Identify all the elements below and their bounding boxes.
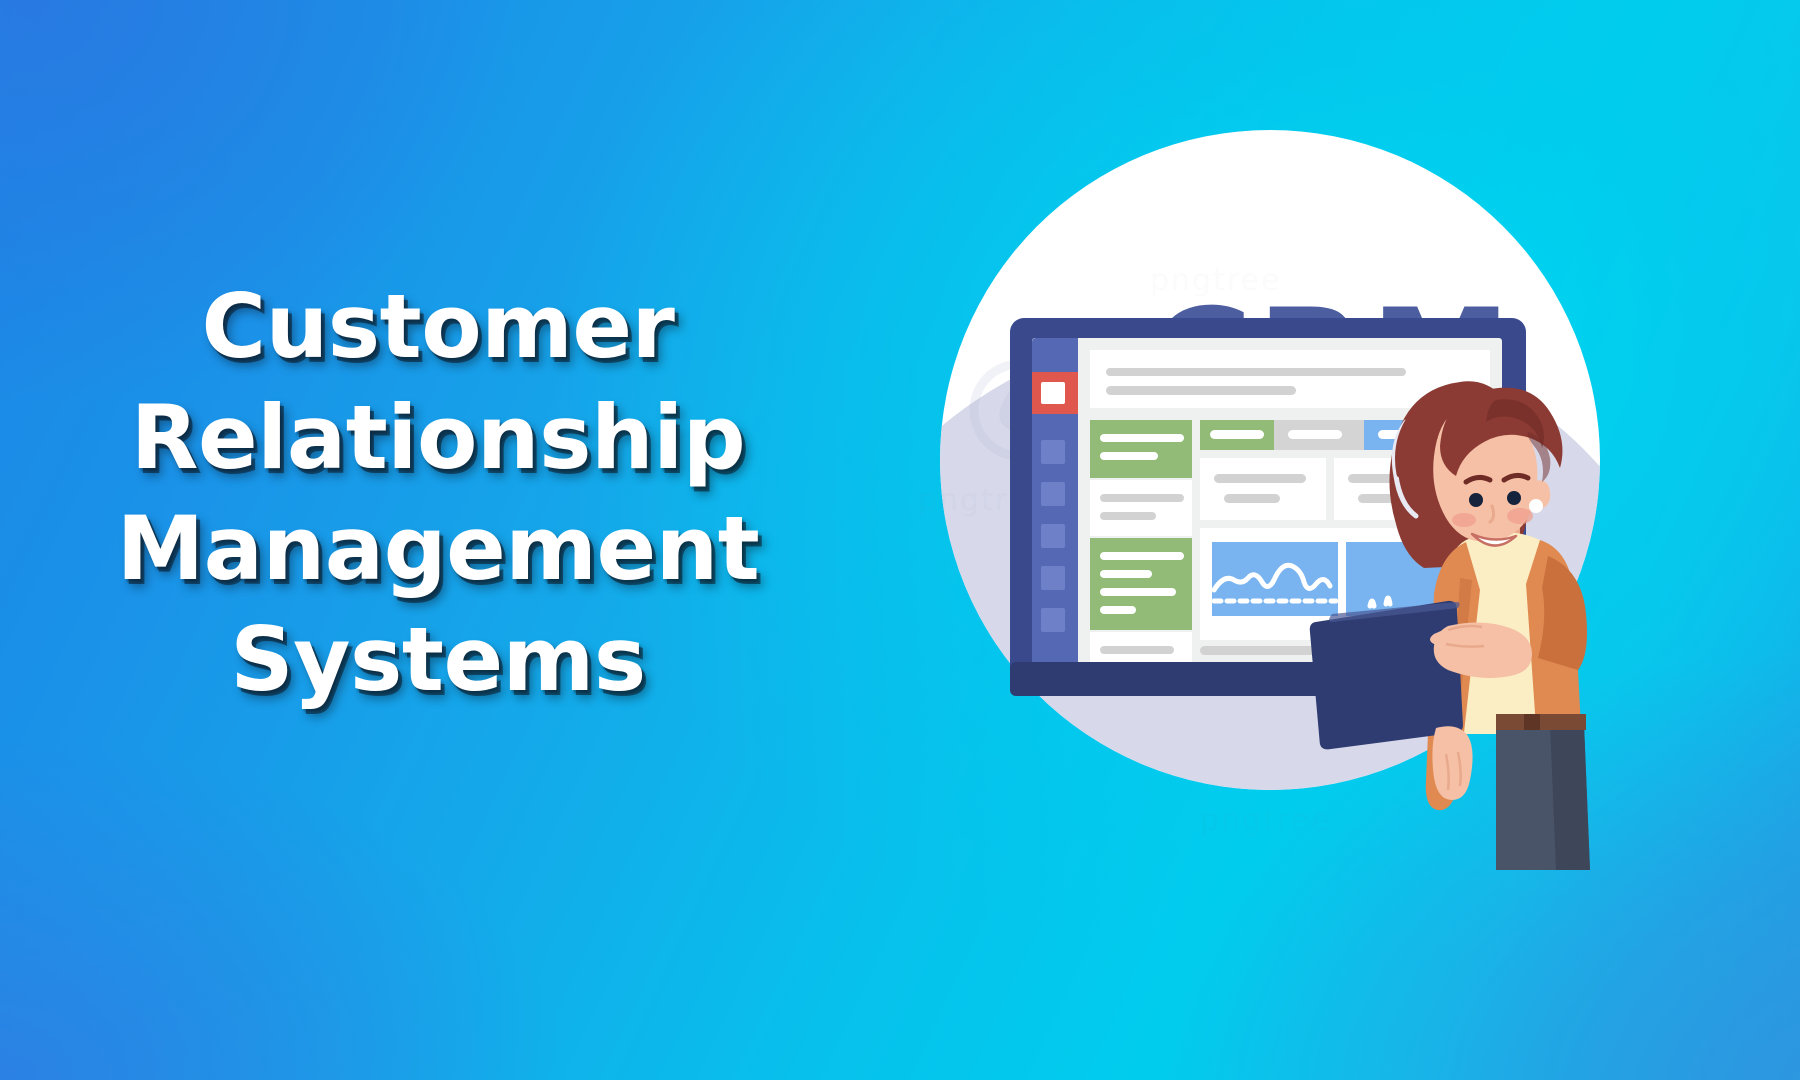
earring — [1529, 499, 1543, 513]
sidebar-item — [1041, 566, 1065, 590]
info-card-left — [1200, 458, 1326, 520]
title-line-1: Customer — [88, 272, 788, 383]
card-line — [1100, 434, 1184, 442]
sidebar-item — [1041, 482, 1065, 506]
sidebar-item — [1041, 524, 1065, 548]
card-line — [1100, 646, 1174, 654]
card-line — [1100, 570, 1152, 578]
chip-line — [1288, 430, 1342, 439]
card-line — [1100, 552, 1184, 560]
header-line-short — [1106, 386, 1296, 395]
left-card-green-1 — [1090, 420, 1192, 478]
header-line-long — [1106, 368, 1406, 376]
title-line-4: Systems — [88, 605, 788, 716]
card-line — [1100, 606, 1136, 614]
sidebar-item — [1041, 440, 1065, 464]
left-card-green-2 — [1090, 538, 1192, 630]
belt — [1496, 714, 1586, 730]
card-line — [1100, 588, 1176, 596]
pants-shade — [1550, 724, 1590, 870]
belt-buckle — [1524, 714, 1540, 730]
page-title: Customer Relationship Management Systems — [88, 272, 788, 716]
eye-right — [1507, 491, 1521, 505]
crm-illustration: pngtree pngtree pngtree pngtree CRM — [900, 110, 1640, 870]
blush-right — [1507, 508, 1533, 524]
card-line — [1100, 494, 1184, 502]
left-card-white-1 — [1090, 480, 1192, 536]
card-line — [1214, 474, 1306, 483]
title-line-3: Management — [88, 494, 788, 605]
eye-left — [1469, 493, 1483, 507]
title-line-2: Relationship — [88, 383, 788, 494]
svg-text:pngtree: pngtree — [1200, 803, 1331, 838]
sidebar-item — [1041, 608, 1065, 632]
card-line — [1224, 494, 1280, 503]
hand-lower — [1432, 726, 1472, 800]
card-line — [1100, 512, 1156, 520]
sidebar-item-active-inner — [1041, 382, 1065, 404]
chip-line — [1210, 430, 1264, 439]
blush-left — [1452, 513, 1476, 527]
card-line — [1100, 452, 1158, 460]
